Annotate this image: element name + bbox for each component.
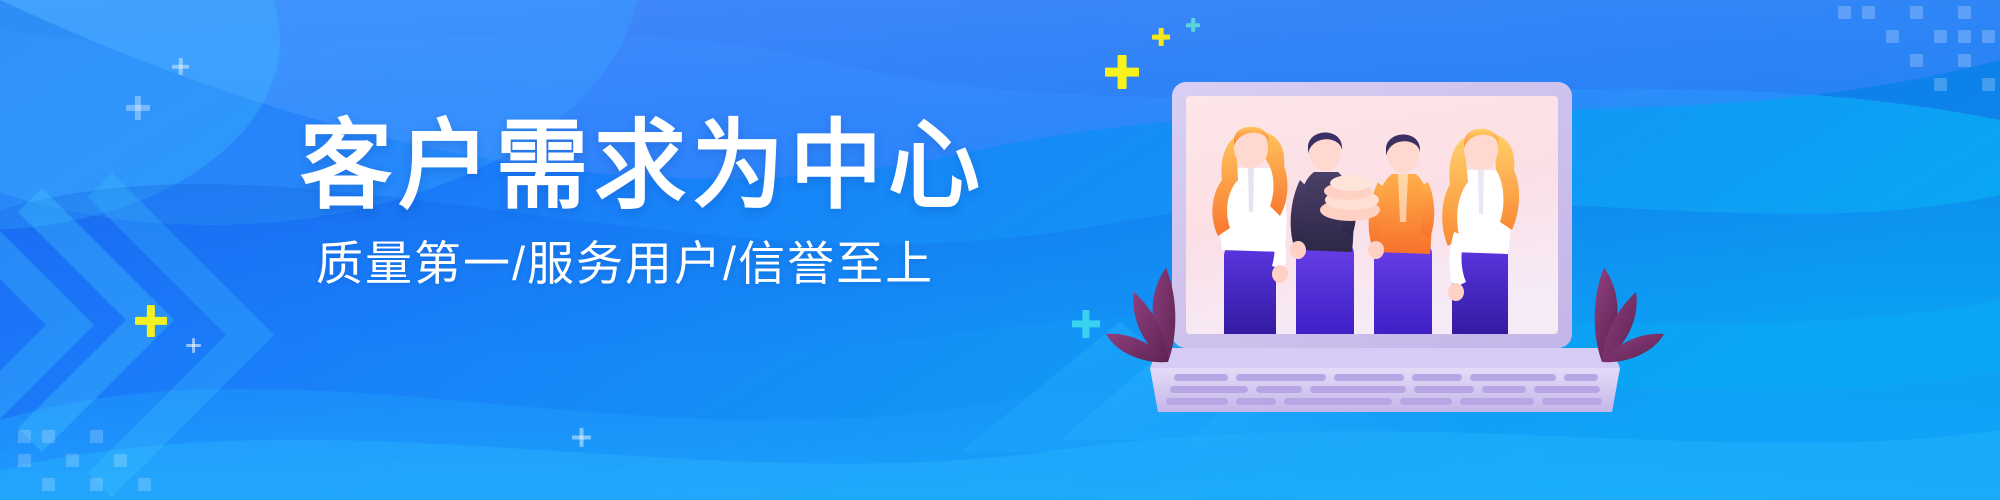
banner-text-block: 客户需求为中心 质量第一/服务用户/信誉至上 [300, 118, 1030, 287]
laptop-hinge [1150, 348, 1620, 368]
person-4-woman-blonde [1442, 129, 1519, 338]
plus-yellow-large-icon [1105, 55, 1139, 89]
laptop-team-illustration [1150, 60, 1620, 420]
plus-yellow-small-icon [1152, 28, 1170, 46]
plus-white-left-c-icon [126, 96, 150, 120]
plus-white-left-b-icon [172, 58, 189, 75]
plus-yellow-left-icon [135, 305, 167, 337]
marketing-banner: 客户需求为中心 质量第一/服务用户/信誉至上 [0, 0, 2000, 500]
plus-cyan-small-icon [1186, 18, 1200, 32]
plus-white-mid-icon [572, 428, 591, 447]
plus-cyan-mid-icon [1072, 310, 1100, 338]
banner-subline: 质量第一/服务用户/信誉至上 [316, 240, 1030, 287]
banner-headline: 客户需求为中心 [300, 118, 1030, 216]
plus-white-left-a-icon [186, 338, 201, 353]
